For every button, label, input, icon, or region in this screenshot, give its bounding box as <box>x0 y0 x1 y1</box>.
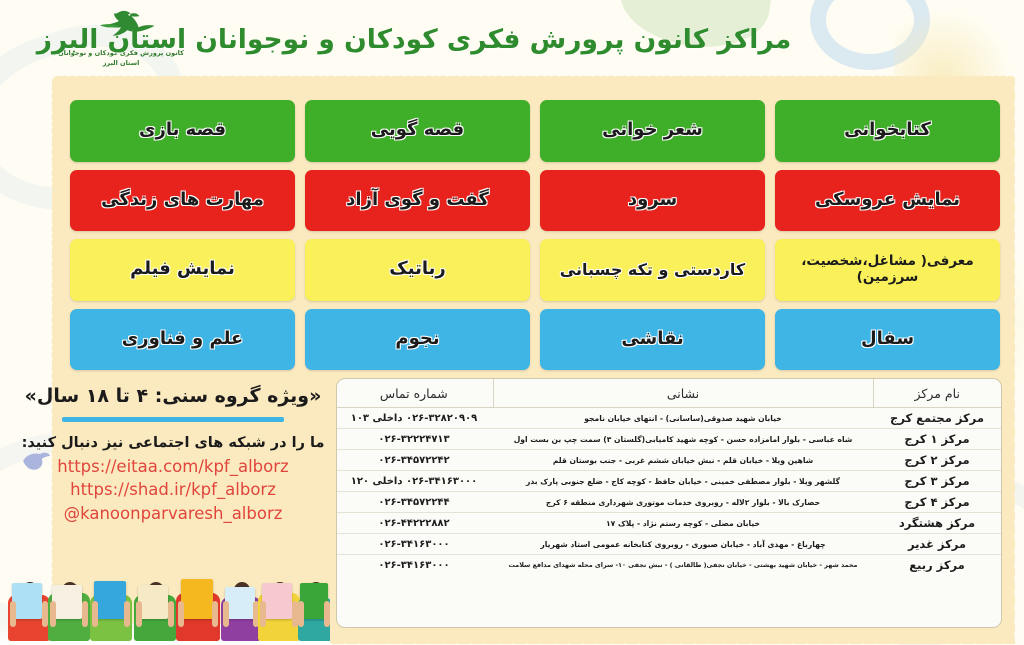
cell-address: محمد شهر - خیابان شهید بهشتی - خیابان نج… <box>493 555 873 576</box>
cell-address: حصارک بالا - بلوار ۲لاله - روبروی خدمات … <box>493 492 873 513</box>
activity-button-sorood[interactable]: سرود <box>540 170 765 232</box>
logo-caption-line-2: استان البرز <box>103 59 140 68</box>
page-title: مراکز کانون پرورش فکری کودکان و نوجوانان… <box>19 24 809 55</box>
activity-button-goftogooye-azad[interactable]: گفت و گوی آزاد <box>305 170 530 232</box>
follow-us-label: ما را در شبکه های اجتماعی نیز دنبال کنید… <box>18 435 328 451</box>
social-link-shad[interactable]: https://shad.ir/kpf_alborz <box>18 478 328 501</box>
column-header-center-name: نام مرکز <box>873 379 1001 408</box>
children-reading-photo <box>0 552 330 645</box>
activity-button-sherkhani[interactable]: شعر خوانی <box>540 100 765 162</box>
activity-button-robatik[interactable]: رباتیک <box>305 239 530 301</box>
activity-button-ghesseguyi[interactable]: قصه گویی <box>305 100 530 162</box>
small-bird-icon <box>18 447 52 473</box>
table-row: مرکز ۳ کرج گلشهر ویلا - بلوار مصطفی خمین… <box>336 471 1001 492</box>
cell-center-name: مرکز ۴ کرج <box>873 492 1001 513</box>
age-group-note: «ویژه گروه سنی: ۴ تا ۱۸ سال» <box>18 385 328 407</box>
cell-center-name: مرکز ۳ کرج <box>873 471 1001 492</box>
cell-phone: ۰۲۶-۳۴۵۷۲۲۴۴ <box>336 492 493 513</box>
cell-address: گلشهر ویلا - بلوار مصطفی خمینی - خیابان … <box>493 471 873 492</box>
activity-button-ketabkhani[interactable]: کتابخوانی <box>775 100 1000 162</box>
cell-phone: ۰۲۶-۳۴۱۶۳۰۰۰ داخلی ۱۲۰ <box>336 471 493 492</box>
cell-center-name: مرکز مجتمع کرج <box>873 408 1001 429</box>
table-row: مرکز هشتگرد خیابان مصلی - کوچه رستم نژاد… <box>336 513 1001 534</box>
cell-center-name: مرکز ۱ کرج <box>873 429 1001 450</box>
cell-phone: ۰۲۶-۳۲۸۲۰۹۰۹ داخلی ۱۰۳ <box>336 408 493 429</box>
activity-button-sofal[interactable]: سفال <box>775 309 1000 371</box>
centers-table-card: نام مرکز نشانی شماره تماس مرکز مجتمع کرج… <box>336 378 1002 628</box>
cell-center-name: مرکز هشتگرد <box>873 513 1001 534</box>
centers-table: نام مرکز نشانی شماره تماس مرکز مجتمع کرج… <box>336 379 1001 575</box>
scallop-edge-right <box>1001 82 1015 637</box>
activity-button-namayesh-film[interactable]: نمایش فیلم <box>70 239 295 301</box>
info-block: «ویژه گروه سنی: ۴ تا ۱۸ سال» ما را در شب… <box>18 385 328 525</box>
activity-button-kardasti-takkechasbani[interactable]: کاردستی و تکه چسبانی <box>540 239 765 301</box>
activity-button-elm-va-fanavari[interactable]: علم و فناوری <box>70 309 295 371</box>
cell-address: خیابان شهید صدوقی(ساسانی) - انتهای خیابا… <box>493 408 873 429</box>
column-header-address: نشانی <box>493 379 873 408</box>
social-link-eitaa[interactable]: https://eitaa.com/kpf_alborz <box>18 455 328 478</box>
poster-header: کانون پرورش فکری کودکان و نوجوانان استان… <box>0 0 1024 88</box>
cell-center-name: مرکز ۲ کرج <box>873 450 1001 471</box>
cell-center-name: مرکز ربیع <box>873 555 1001 576</box>
table-row: مرکز مجتمع کرج خیابان شهید صدوقی(ساسانی)… <box>336 408 1001 429</box>
cell-phone: ۰۲۶-۳۴۱۶۳۰۰۰ <box>336 534 493 555</box>
activity-button-namayesh-aroosaki[interactable]: نمایش عروسکی <box>775 170 1000 232</box>
cell-phone: ۰۲۶-۳۲۲۲۴۷۱۳ <box>336 429 493 450</box>
cell-address: شاهین ویلا - خیابان قلم - نبش خیابان ششم… <box>493 450 873 471</box>
table-row: مرکز ۱ کرج شاه عباسی - بلوار امامزاده حس… <box>336 429 1001 450</box>
cell-phone: ۰۲۶-۴۴۲۲۲۸۸۲ <box>336 513 493 534</box>
cell-center-name: مرکز غدیر <box>873 534 1001 555</box>
table-row: مرکز غدیر چهارباغ - مهدی آباد - خیابان ص… <box>336 534 1001 555</box>
activity-button-nojoom[interactable]: نجوم <box>305 309 530 371</box>
activity-button-ghessebazi[interactable]: قصه بازی <box>70 100 295 162</box>
cell-address: خیابان مصلی - کوچه رستم نژاد - پلاک ۱۷ <box>493 513 873 534</box>
activities-grid: کتابخوانی شعر خوانی قصه گویی قصه بازی نم… <box>70 100 1000 370</box>
cell-address: چهارباغ - مهدی آباد - خیابان صبوری - روب… <box>493 534 873 555</box>
column-header-phone: شماره تماس <box>336 379 493 408</box>
activity-button-maharathaye-zendegi[interactable]: مهارت های زندگی <box>70 170 295 232</box>
activity-button-naghashi[interactable]: نقاشی <box>540 309 765 371</box>
activity-button-moarefi[interactable]: معرفی( مشاغل،شخصیت، سرزمین) <box>775 239 1000 301</box>
cell-phone: ۰۲۶-۳۴۱۶۳۰۰۰ <box>336 555 493 576</box>
info-divider <box>62 417 284 422</box>
poster-root: کانون پرورش فکری کودکان و نوجوانان استان… <box>0 0 1024 645</box>
social-link-handle[interactable]: @kanoonparvaresh_alborz <box>18 502 328 525</box>
cell-address: شاه عباسی - بلوار امامزاده حسن - کوچه شه… <box>493 429 873 450</box>
table-row: مرکز ربیع محمد شهر - خیابان شهید بهشتی -… <box>336 555 1001 576</box>
cell-phone: ۰۲۶-۳۴۵۷۲۲۴۲ <box>336 450 493 471</box>
table-row: مرکز ۴ کرج حصارک بالا - بلوار ۲لاله - رو… <box>336 492 1001 513</box>
table-row: مرکز ۲ کرج شاهین ویلا - خیابان قلم - نبش… <box>336 450 1001 471</box>
table-header-row: نام مرکز نشانی شماره تماس <box>336 379 1001 408</box>
